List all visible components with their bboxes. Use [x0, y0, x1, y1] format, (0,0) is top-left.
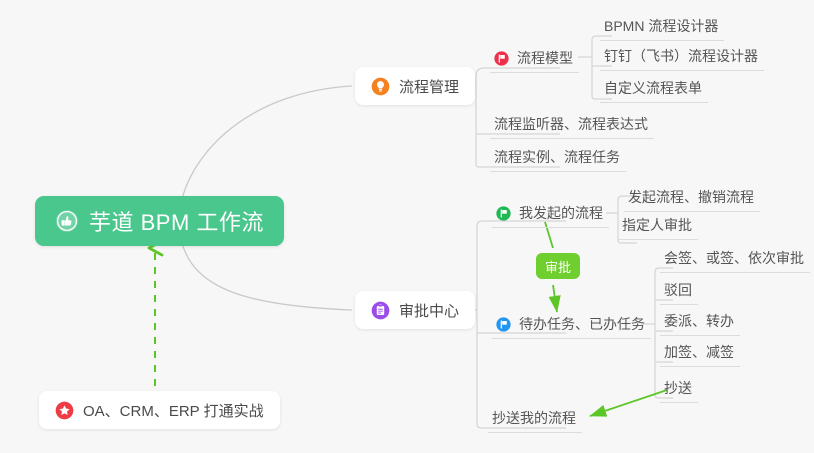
node-countersign[interactable]: 会签、或签、依次审批: [660, 244, 810, 273]
node-add-remove-sign[interactable]: 加签、减签: [660, 338, 740, 367]
label-bpmn-designer: BPMN 流程设计器: [604, 16, 718, 36]
label-custom-form: 自定义流程表单: [604, 78, 702, 98]
label-add-remove-sign: 加签、减签: [664, 342, 734, 362]
node-delegate-transfer[interactable]: 委派、转办: [660, 307, 740, 336]
label-countersign: 会签、或签、依次审批: [664, 248, 804, 268]
label-dingtalk-designer: 钉钉（飞书）流程设计器: [604, 46, 758, 66]
detached-node-integration[interactable]: OA、CRM、ERP 打通实战: [39, 391, 280, 429]
label-process-listener: 流程监听器、流程表达式: [494, 114, 648, 134]
clipboard-icon: [371, 301, 390, 320]
label-cc-to-me: 抄送我的流程: [492, 408, 576, 428]
node-custom-form[interactable]: 自定义流程表单: [600, 74, 708, 103]
node-my-initiated[interactable]: 我发起的流程: [492, 199, 609, 228]
label-designated-approver: 指定人审批: [622, 215, 692, 235]
label-carbon-copy: 抄送: [664, 378, 692, 398]
node-todo-done-tasks[interactable]: 待办任务、已办任务: [492, 310, 651, 339]
carbon-copy-arrow: [590, 390, 667, 416]
approval-flow-arrow-down: [553, 285, 557, 312]
label-todo-done-tasks: 待办任务、已办任务: [519, 314, 645, 334]
node-dingtalk-designer[interactable]: 钉钉（飞书）流程设计器: [600, 42, 764, 71]
node-cc-to-me[interactable]: 抄送我的流程: [488, 404, 582, 433]
node-process-instance[interactable]: 流程实例、流程任务: [490, 143, 626, 172]
branch-label-process-management: 流程管理: [399, 76, 459, 97]
flag-icon: [494, 51, 509, 66]
thumbs-up-icon: [55, 209, 79, 233]
node-reject[interactable]: 驳回: [660, 276, 698, 305]
node-process-listener[interactable]: 流程监听器、流程表达式: [490, 110, 654, 139]
detached-node-label: OA、CRM、ERP 打通实战: [83, 400, 264, 421]
branch-node-process-management[interactable]: 流程管理: [355, 67, 475, 105]
node-designated-approver[interactable]: 指定人审批: [618, 211, 698, 240]
node-bpmn-designer[interactable]: BPMN 流程设计器: [600, 12, 724, 41]
flag-icon: [496, 317, 511, 332]
label-process-model: 流程模型: [517, 48, 573, 68]
root-node[interactable]: 芋道 BPM 工作流: [35, 196, 284, 246]
node-process-model[interactable]: 流程模型: [490, 44, 579, 73]
label-process-instance: 流程实例、流程任务: [494, 147, 620, 167]
label-reject: 驳回: [664, 280, 692, 300]
label-my-initiated: 我发起的流程: [519, 203, 603, 223]
node-carbon-copy[interactable]: 抄送: [660, 374, 698, 403]
flag-icon: [496, 206, 511, 221]
approval-badge-label: 审批: [545, 257, 571, 276]
mindmap-canvas: 芋道 BPM 工作流 流程管理 流程模型 流程监听器、流程表达式 流程实例、流: [0, 0, 814, 453]
branch-label-approval-center: 审批中心: [399, 300, 459, 321]
label-start-cancel-process: 发起流程、撤销流程: [628, 187, 754, 207]
node-start-cancel-process[interactable]: 发起流程、撤销流程: [624, 183, 760, 212]
root-label: 芋道 BPM 工作流: [89, 205, 264, 237]
label-delegate-transfer: 委派、转办: [664, 311, 734, 331]
approval-badge[interactable]: 审批: [536, 253, 580, 279]
branch-node-approval-center[interactable]: 审批中心: [355, 291, 475, 329]
lightbulb-icon: [371, 77, 390, 96]
star-icon: [55, 401, 74, 420]
